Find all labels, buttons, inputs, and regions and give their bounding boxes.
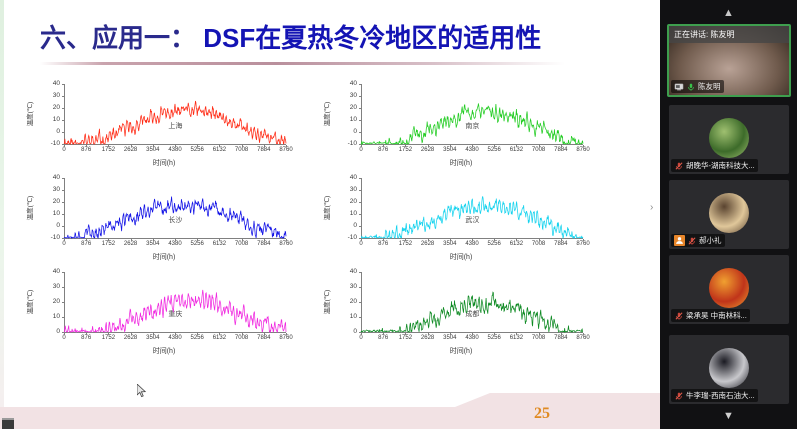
mic-muted-icon (687, 236, 697, 246)
chart-4: 温度(℃)-1001020304008761752262835044380525… (315, 172, 607, 264)
title-main: DSF在夏热冬冷地区的适用性 (203, 23, 541, 53)
participant-tile[interactable]: 胡晚华-湖南科技大... (669, 105, 789, 174)
chart-series-path (18, 266, 310, 358)
participant-tile[interactable]: 郝小礼 (669, 180, 789, 249)
slideshow-control-icon[interactable] (2, 418, 14, 429)
chart-series-path (315, 172, 607, 264)
slide-number: 25 (534, 405, 550, 423)
participant-namebar: 郝小礼 (671, 234, 725, 247)
screen-share-icon (674, 82, 684, 92)
title-underline (40, 62, 565, 65)
chevron-right-icon[interactable]: › (650, 203, 653, 213)
avatar (709, 193, 749, 233)
chart-6: 温度(℃)01020304008761752262835044380525661… (315, 266, 607, 358)
mouse-cursor (137, 384, 147, 399)
slide-title-area: 六、应用一： DSF在夏热冬冷地区的适用性 (0, 10, 660, 66)
scroll-up-arrow-icon[interactable]: ▲ (660, 8, 797, 18)
host-badge-icon (674, 235, 685, 246)
chart-series-path (315, 78, 607, 170)
page-title: 六、应用一： DSF在夏热冬冷地区的适用性 (40, 18, 541, 55)
screen-root: 六、应用一： DSF在夏热冬冷地区的适用性 温度(℃)-100102030400… (0, 0, 797, 429)
footer-band (0, 393, 660, 429)
active-speaker-banner: 正在讲话: 陈友明 (669, 26, 789, 43)
mic-on-icon (686, 82, 696, 92)
participant-name: 胡晚华-湖南科技大... (686, 160, 755, 171)
mic-muted-icon (674, 161, 684, 171)
chart-series-path (315, 266, 607, 358)
participant-name: 郝小礼 (699, 235, 722, 246)
participant-name: 梁承昊 中南林科... (686, 310, 747, 321)
chart-3: 温度(℃)-1001020304008761752262835044380525… (18, 172, 310, 264)
participant-tile[interactable]: 梁承昊 中南林科... (669, 255, 789, 324)
mic-muted-icon (674, 311, 684, 321)
participant-namebar: 陈友明 (671, 80, 724, 93)
chart-5: 温度(℃)01020304008761752262835044380525661… (18, 266, 310, 358)
mic-muted-icon (674, 391, 684, 401)
chart-1: 温度(℃)-1001020304008761752262835044380525… (18, 78, 310, 170)
chart-series-path (18, 172, 310, 264)
participant-rail[interactable]: › ▲ 正在讲话: 陈友明陈友明胡晚华-湖南科技大...郝小礼梁承昊 中南林科.… (660, 0, 797, 429)
avatar (709, 118, 749, 158)
chart-series-path (18, 78, 310, 170)
participant-namebar: 牛李瑞-西南石油大... (671, 389, 758, 402)
chart-2: 温度(℃)-1001020304008761752262835044380525… (315, 78, 607, 170)
participant-name: 陈友明 (698, 81, 721, 92)
avatar (709, 268, 749, 308)
participant-namebar: 梁承昊 中南林科... (671, 309, 750, 322)
presentation-slide[interactable]: 六、应用一： DSF在夏热冬冷地区的适用性 温度(℃)-100102030400… (0, 0, 660, 429)
participant-tile[interactable]: 牛李瑞-西南石油大... (669, 335, 789, 404)
participant-tile[interactable]: 正在讲话: 陈友明陈友明 (667, 24, 791, 97)
participant-namebar: 胡晚华-湖南科技大... (671, 159, 758, 172)
participant-name: 牛李瑞-西南石油大... (686, 390, 755, 401)
scroll-down-arrow-icon[interactable]: ▼ (660, 411, 797, 421)
avatar (709, 348, 749, 388)
title-prefix: 六、应用一： (40, 23, 196, 53)
